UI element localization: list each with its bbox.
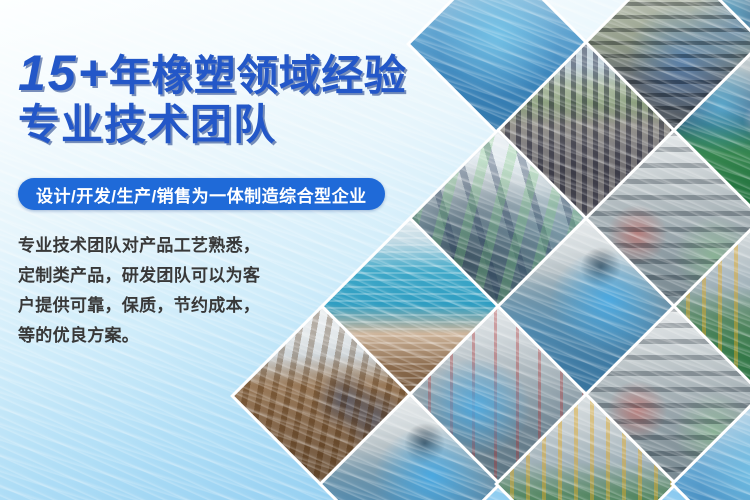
inspection-photo <box>322 396 497 500</box>
photo-image <box>410 0 585 132</box>
photo-image <box>498 396 673 500</box>
page-subtitle: 专业技术团队 <box>18 104 276 146</box>
operator-desk-photo <box>498 220 673 395</box>
production-line-photo <box>674 220 750 395</box>
molding-machine-photo <box>586 132 750 307</box>
right-edge-photo <box>674 0 750 132</box>
photo-image <box>674 220 750 395</box>
staff-crowd-photo <box>498 44 673 219</box>
page-title: 15+年橡塑领域经验 <box>18 48 406 98</box>
photo-image <box>410 132 585 307</box>
blue-fill-tile <box>674 396 750 500</box>
photo-image <box>674 0 750 132</box>
body-paragraph: 专业技术团队对产品工艺熟悉，定制类产品，研发团队可以为客户提供可靠，保质，节约成… <box>18 231 268 351</box>
warehouse-photo <box>498 396 673 500</box>
photo-image <box>674 396 750 500</box>
photo-image <box>410 308 585 483</box>
corner-fill-photo <box>410 0 585 132</box>
testing-machine-photo <box>410 308 585 483</box>
photo-image <box>586 308 750 483</box>
headline-suffix: 年橡塑领域经验 <box>109 52 407 99</box>
assembly-bench-photo <box>674 44 750 219</box>
office-workstations-photo <box>410 132 585 307</box>
plus-icon: + <box>78 45 109 101</box>
reception-lobby-photo <box>322 220 497 395</box>
photo-image <box>322 220 497 395</box>
machine-operator-photo <box>586 0 750 132</box>
photo-image <box>322 396 497 500</box>
status-badge: 设计/开发/生产/销售为一体制造综合型企业 <box>18 178 385 210</box>
photo-image <box>498 220 673 395</box>
photo-image <box>586 0 750 132</box>
packing-line-photo <box>586 308 750 483</box>
photo-image <box>498 44 673 219</box>
promo-banner: 15+年橡塑领域经验 专业技术团队 设计/开发/生产/销售为一体制造综合型企业 … <box>0 0 750 500</box>
years-number: 15 <box>18 45 78 101</box>
photo-image <box>674 44 750 219</box>
photo-image <box>586 132 750 307</box>
